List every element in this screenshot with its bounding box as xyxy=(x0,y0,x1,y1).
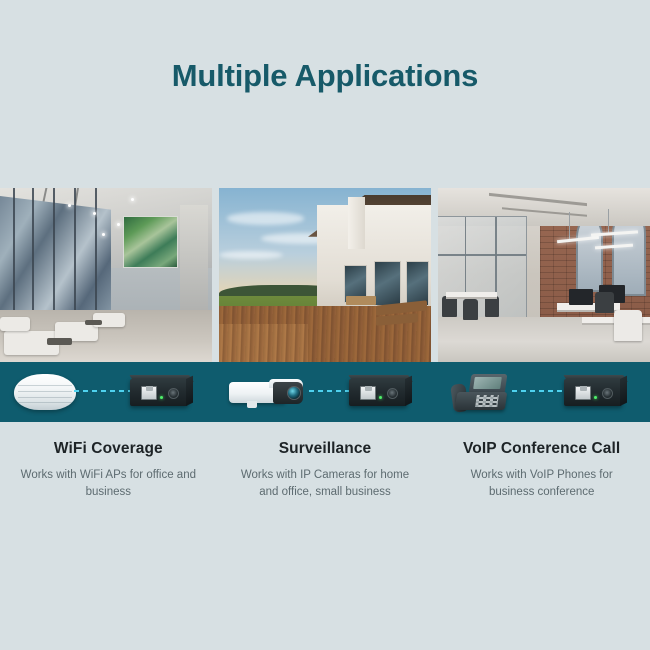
poe-body xyxy=(130,379,188,406)
wooden-deck-step xyxy=(219,324,308,362)
status-led xyxy=(160,396,163,399)
monitor xyxy=(569,289,592,305)
sky-cloud xyxy=(219,251,283,260)
ethernet-connector-line xyxy=(309,390,351,392)
lobby-sofa xyxy=(0,317,30,331)
ceiling-downlight xyxy=(117,223,120,226)
camera-lens xyxy=(287,386,301,400)
status-led xyxy=(594,396,597,399)
status-led xyxy=(379,396,382,399)
house-chimney xyxy=(348,197,365,249)
arched-window xyxy=(576,216,604,293)
caption-title: VoIP Conference Call xyxy=(447,440,636,458)
poe-splitter-icon xyxy=(130,375,196,409)
ap-rib xyxy=(18,397,73,398)
office-chair xyxy=(614,310,642,341)
caption-title: WiFi Coverage xyxy=(14,440,203,458)
diagram-surveillance xyxy=(217,362,433,422)
ethernet-connector-line xyxy=(512,390,566,392)
poe-splitter-icon xyxy=(564,375,630,409)
rj45-port-icon xyxy=(141,386,157,400)
poe-side-face xyxy=(186,376,193,406)
poe-body xyxy=(349,379,407,406)
ceiling-downlight xyxy=(68,204,71,207)
ap-rib xyxy=(18,402,73,403)
caption-surveillance: Surveillance Works with IP Cameras for h… xyxy=(217,440,434,500)
office-chair xyxy=(595,292,614,313)
phone-screen xyxy=(473,377,502,389)
ap-rib xyxy=(18,385,73,386)
pendant-cord xyxy=(569,212,570,240)
poe-side-face xyxy=(405,376,412,406)
photo-strip xyxy=(0,188,650,362)
power-jack-icon xyxy=(387,388,398,399)
photo-office xyxy=(438,188,650,362)
caption-description: Works with VoIP Phones for business conf… xyxy=(447,467,636,500)
glass-mullion xyxy=(438,254,526,256)
power-jack-icon xyxy=(168,388,179,399)
pendant-cord xyxy=(608,209,609,233)
application-banner: Multiple Applications xyxy=(0,0,650,650)
lobby-coffee-table xyxy=(47,338,72,345)
caption-voip-conference-call: VoIP Conference Call Works with VoIP Pho… xyxy=(433,440,650,500)
page-title-container: Multiple Applications xyxy=(0,58,650,94)
phone-keypad xyxy=(475,395,499,407)
meeting-chair xyxy=(463,299,478,320)
wifi-access-point-icon xyxy=(14,374,76,410)
device-diagram-band xyxy=(0,362,650,422)
rj45-port-icon xyxy=(360,386,376,400)
photo-house-deck xyxy=(219,188,431,362)
poe-splitter-icon xyxy=(349,375,415,409)
ap-rib xyxy=(18,391,73,392)
poe-side-face xyxy=(620,376,627,406)
sky-cloud xyxy=(227,212,303,224)
photo-hotel-lobby xyxy=(0,188,212,362)
lobby-coffee-table xyxy=(85,320,102,325)
lobby-wall-art xyxy=(123,216,178,268)
patio-table xyxy=(346,296,376,305)
ethernet-connector-line xyxy=(74,390,132,392)
caption-description: Works with IP Cameras for home and offic… xyxy=(231,467,420,500)
poe-body xyxy=(564,379,622,406)
ip-camera-icon xyxy=(229,375,307,409)
meeting-table xyxy=(446,292,497,299)
caption-title: Surveillance xyxy=(231,440,420,458)
diagram-voip-conference xyxy=(434,362,650,422)
diagram-wifi-coverage xyxy=(0,362,216,422)
voip-phone-icon xyxy=(450,372,512,414)
rj45-port-icon xyxy=(575,386,591,400)
camera-mount xyxy=(247,401,257,408)
page-title: Multiple Applications xyxy=(0,58,650,94)
caption-wifi-coverage: WiFi Coverage Works with WiFi APs for of… xyxy=(0,440,217,500)
power-jack-icon xyxy=(602,388,613,399)
lobby-wall-panel xyxy=(180,205,208,313)
house-window xyxy=(374,261,402,306)
caption-description: Works with WiFi APs for office and busin… xyxy=(14,467,203,500)
captions-row: WiFi Coverage Works with WiFi APs for of… xyxy=(0,440,650,500)
